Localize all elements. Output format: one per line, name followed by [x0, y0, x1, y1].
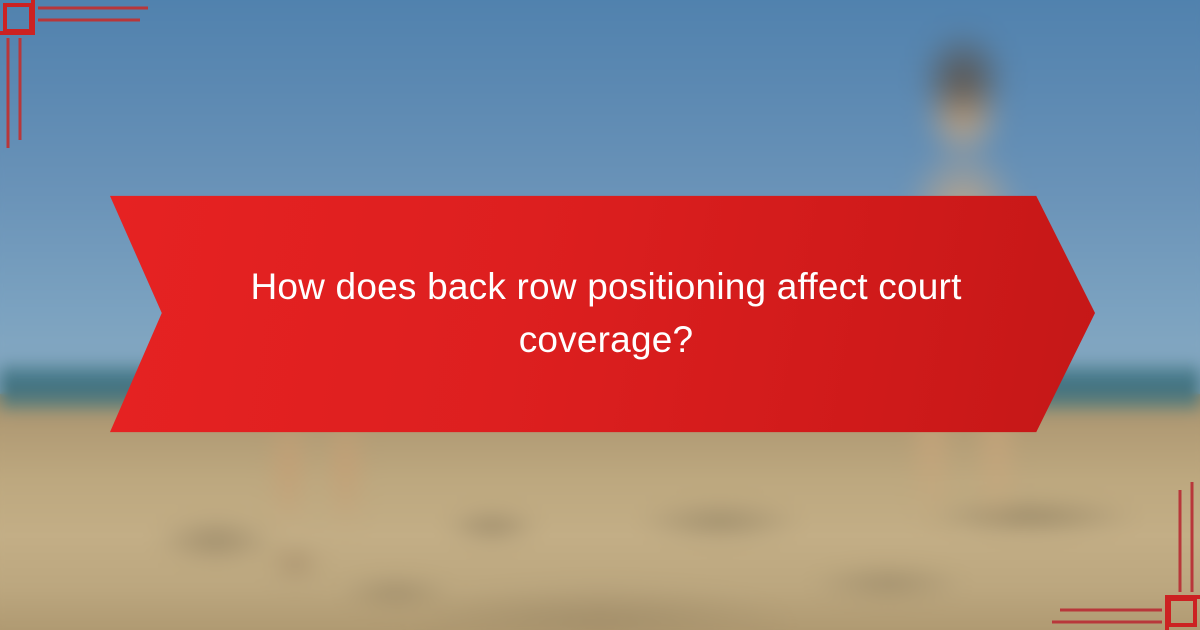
headline-banner-content: How does back row positioning affect cou…: [218, 261, 986, 366]
banner-card: How does back row positioning affect cou…: [0, 0, 1200, 630]
page-title: How does back row positioning affect cou…: [226, 261, 986, 366]
headline-banner: How does back row positioning affect cou…: [104, 194, 1100, 434]
